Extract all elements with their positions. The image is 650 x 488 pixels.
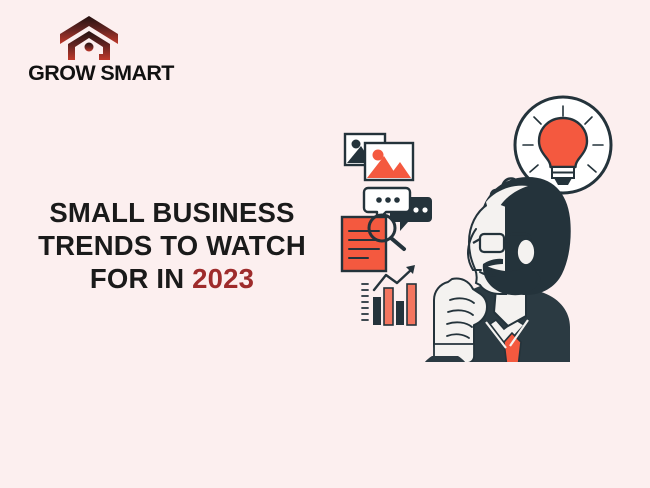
poster-canvas: GROW SMART SMALL BUSINESS TRENDS TO WATC… — [0, 0, 650, 488]
document-search-icon — [342, 215, 404, 271]
businessman-figure — [416, 177, 571, 362]
headline-line-2: TRENDS TO WATCH — [28, 229, 316, 262]
double-chevron-house-logo-icon — [58, 14, 120, 62]
bar-chart-growth-icon — [362, 265, 416, 325]
brand-logo[interactable]: GROW SMART — [16, 14, 186, 82]
brand-wordmark: GROW SMART — [16, 61, 186, 86]
photo-stack-icon — [345, 134, 413, 180]
thinking-businessman-illustration — [320, 92, 640, 362]
headline-line-3-prefix: FOR IN — [90, 263, 192, 294]
headline-line-3: FOR IN 2023 — [28, 262, 316, 295]
headline-year: 2023 — [192, 263, 254, 294]
page-title: SMALL BUSINESS TRENDS TO WATCH FOR IN 20… — [28, 196, 316, 295]
headline-line-1: SMALL BUSINESS — [28, 196, 316, 229]
